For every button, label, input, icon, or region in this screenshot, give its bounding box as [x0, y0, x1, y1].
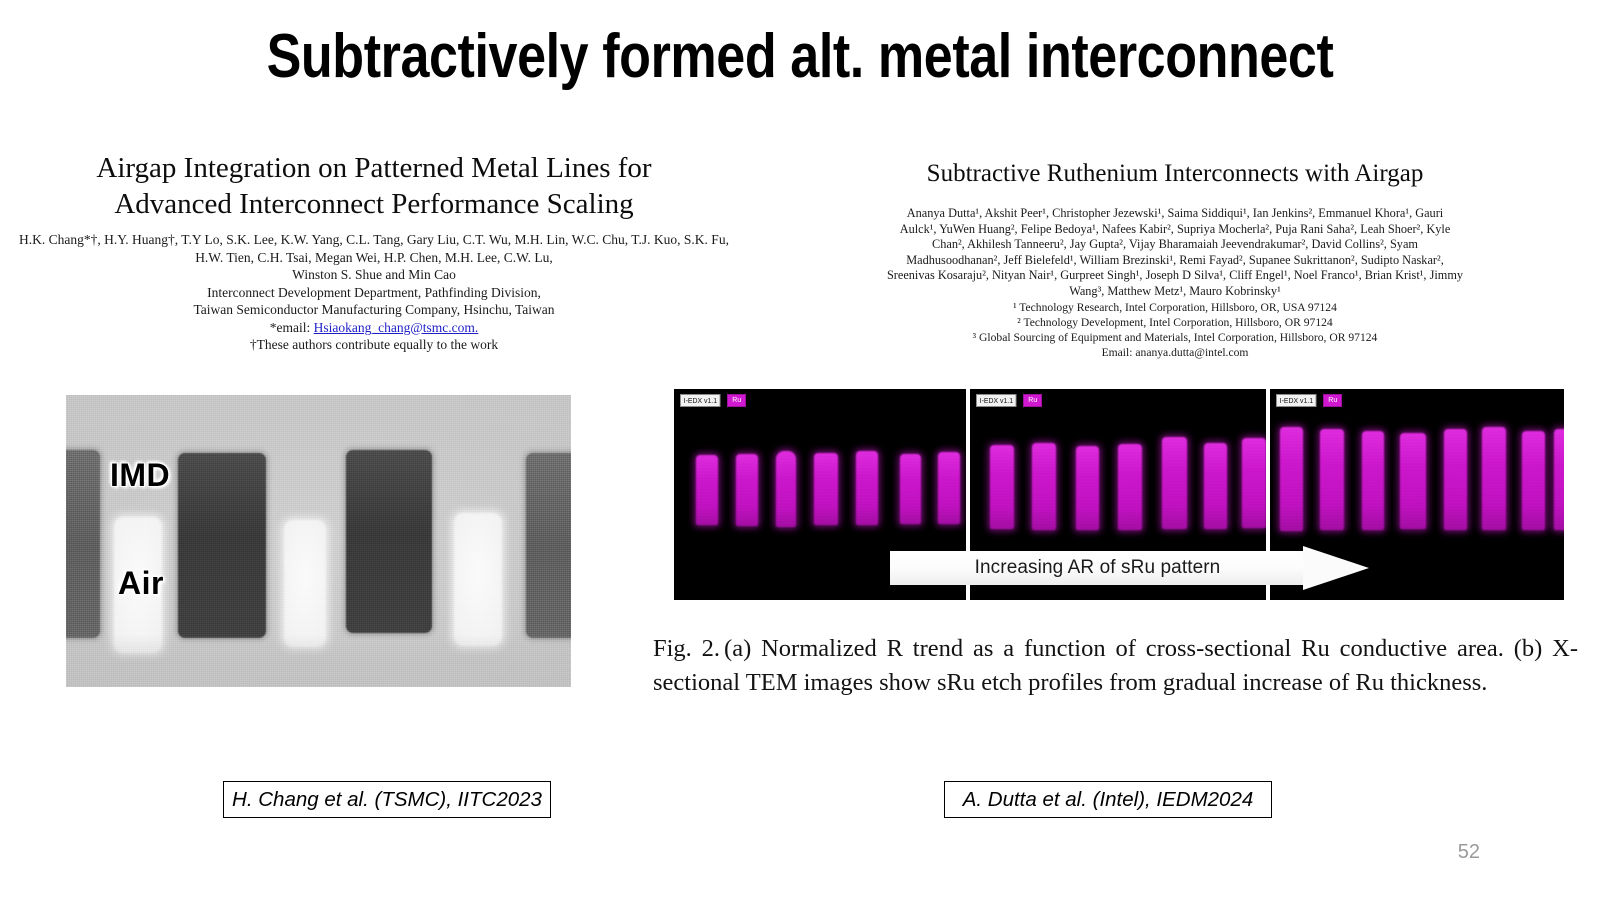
intel-authors-line-5: Sreenivas Kosaraju², Nityan Nair¹, Gurpr… [760, 268, 1590, 284]
slide-canvas: Subtractively formed alt. metal intercon… [0, 0, 1600, 900]
tsmc-email-line: *email: Hsiaokang_chang@tsmc.com. [0, 319, 748, 337]
intel-authors-line-1: Ananya Dutta¹, Akshit Peer¹, Christopher… [760, 206, 1590, 222]
metal-line [346, 450, 432, 633]
figure-caption-text: (a) Normalized R trend as a function of … [653, 635, 1578, 696]
ru-pillar [1280, 427, 1303, 531]
tsmc-footnote: †These authors contribute equally to the… [0, 336, 748, 354]
intel-author-block: Ananya Dutta¹, Akshit Peer¹, Christopher… [760, 206, 1590, 360]
ru-pillar [1162, 437, 1187, 529]
citation-box-tsmc: H. Chang et al. (TSMC), IITC2023 [223, 781, 551, 818]
figure-caption: Fig. 2.(a) Normalized R trend as a funct… [653, 632, 1578, 700]
arrow-head-icon [1303, 546, 1369, 590]
tsmc-affiliation-line-1: Interconnect Development Department, Pat… [0, 284, 748, 302]
intel-paper-title: Subtractive Ruthenium Interconnects with… [760, 158, 1590, 190]
ru-pillar [938, 452, 960, 524]
edx-version-tag: I-EDX v1.1 [680, 394, 721, 407]
intel-affiliation-2: ² Technology Development, Intel Corporat… [760, 315, 1590, 330]
ru-pillar [1554, 429, 1564, 530]
tsmc-title-line-1: Airgap Integration on Patterned Metal Li… [0, 150, 748, 186]
edx-badge: I-EDX v1.1 Ru [976, 394, 1042, 407]
tsmc-title-line-2: Advanced Interconnect Performance Scalin… [0, 186, 748, 222]
arrow-body: Increasing AR of sRu pattern [890, 551, 1305, 585]
ru-pillar [814, 453, 838, 525]
intel-authors-line-6: Wang³, Matthew Metz¹, Mauro Kobrinsky¹ [760, 284, 1590, 300]
metal-line [178, 453, 266, 638]
figure-number: Fig. 2. [653, 635, 720, 662]
tem-label-imd: IMD [110, 457, 170, 494]
ru-pillar [1444, 429, 1467, 530]
ru-pillar [736, 454, 758, 526]
ru-pillar [900, 454, 921, 524]
intel-affiliation-1: ¹ Technology Research, Intel Corporation… [760, 300, 1590, 315]
ru-pillar [776, 451, 796, 527]
airgap-region [284, 520, 326, 647]
ru-pillar [990, 445, 1014, 529]
tsmc-authors-line-2: H.W. Tien, C.H. Tsai, Megan Wei, H.P. Ch… [0, 249, 748, 267]
tsmc-tem-image: IMD Air [66, 395, 571, 687]
tsmc-author-block: H.K. Chang*†, H.Y. Huang†, T.Y Lo, S.K. … [0, 231, 748, 354]
page-title: Subtractively formed alt. metal intercon… [128, 22, 1472, 92]
ru-pillar [1320, 429, 1344, 530]
intel-paper-header: Subtractive Ruthenium Interconnects with… [760, 158, 1590, 360]
ru-pillar [1076, 446, 1099, 530]
edx-badge: I-EDX v1.1 Ru [680, 394, 746, 407]
ru-pillar [696, 455, 718, 525]
airgap-region [454, 513, 502, 646]
intel-affiliation-3: ³ Global Sourcing of Equipment and Mater… [760, 330, 1590, 345]
increasing-ar-arrow: Increasing AR of sRu pattern [890, 546, 1370, 590]
intel-email: Email: ananya.dutta@intel.com [760, 345, 1590, 360]
edx-element-chip-ru: Ru [1023, 394, 1042, 407]
tsmc-paper-header: Airgap Integration on Patterned Metal Li… [0, 150, 748, 354]
tsmc-email-link[interactable]: Hsiaokang_chang@tsmc.com. [314, 320, 479, 335]
ru-pillar [1032, 443, 1056, 530]
ru-pillar [1204, 443, 1227, 529]
ru-pillar [1400, 433, 1426, 529]
metal-line [66, 450, 100, 638]
slide-number: 52 [1458, 841, 1480, 864]
edx-version-tag: I-EDX v1.1 [1276, 394, 1317, 407]
intel-authors-line-3: Chan², Akhilesh Tanneeru², Jay Gupta², V… [760, 237, 1590, 253]
edx-version-tag: I-EDX v1.1 [976, 394, 1017, 407]
metal-line [526, 453, 571, 638]
tsmc-paper-title: Airgap Integration on Patterned Metal Li… [0, 150, 748, 222]
arrow-label: Increasing AR of sRu pattern [975, 557, 1221, 579]
edx-element-chip-ru: Ru [1323, 394, 1342, 407]
ru-pillar [1482, 427, 1506, 530]
intel-authors-line-4: Madhusoodhanan², Jeff Bielefeld¹, Willia… [760, 253, 1590, 269]
ru-pillar [1242, 438, 1266, 528]
tsmc-authors-line-3: Winston S. Shue and Min Cao [0, 266, 748, 284]
tsmc-authors-line-1: H.K. Chang*†, H.Y. Huang†, T.Y Lo, S.K. … [0, 231, 748, 249]
intel-authors-line-2: Aulck¹, YuWen Huang², Felipe Bedoya¹, Na… [760, 222, 1590, 238]
ru-pillar [1118, 444, 1142, 530]
ru-pillar [856, 451, 878, 525]
tsmc-email-prefix: *email: [270, 320, 314, 335]
edx-element-chip-ru: Ru [727, 394, 746, 407]
tsmc-affiliation-line-2: Taiwan Semiconductor Manufacturing Compa… [0, 301, 748, 319]
ru-pillar [1522, 431, 1545, 530]
tem-label-air: Air [118, 565, 164, 602]
edx-badge: I-EDX v1.1 Ru [1276, 394, 1342, 407]
citation-box-intel: A. Dutta et al. (Intel), IEDM2024 [944, 781, 1272, 818]
ru-pillar [1362, 431, 1384, 530]
